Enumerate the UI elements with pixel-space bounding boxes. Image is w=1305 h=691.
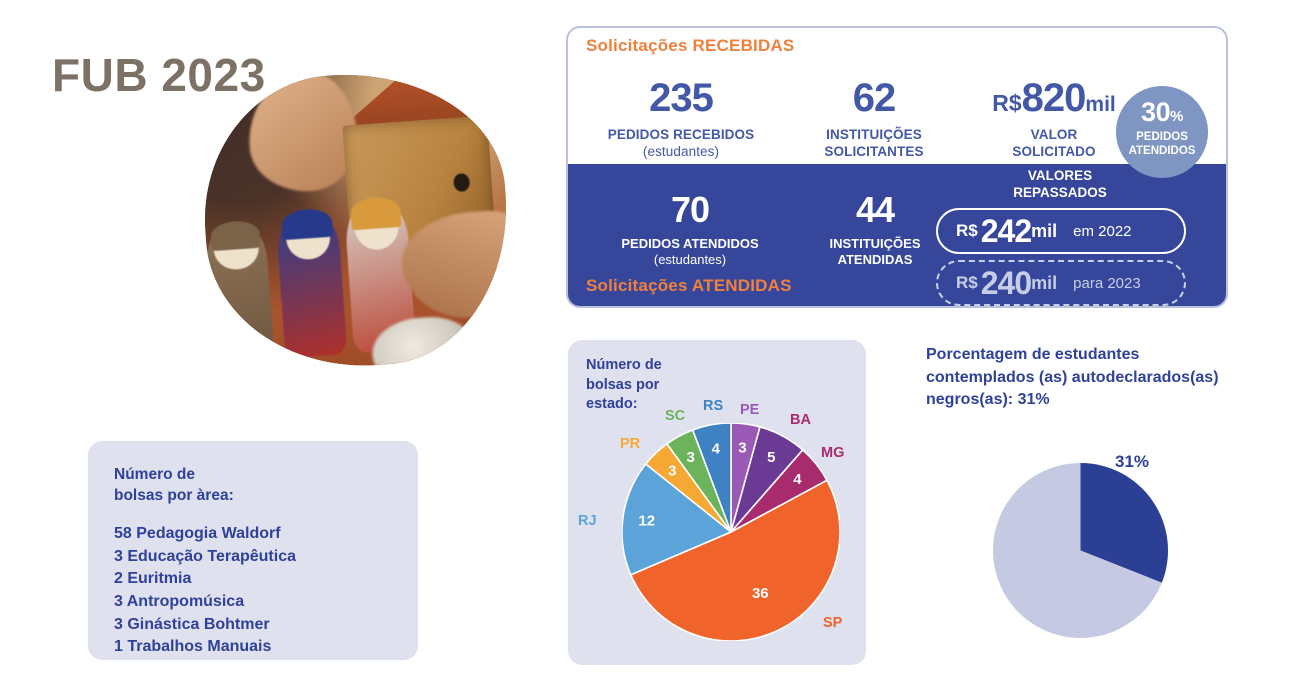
- stat-pedidos-recebidos: 235 PEDIDOS RECEBIDOS (estudantes): [576, 78, 786, 161]
- status-badge-pedidos-atendidos: 30% PEDIDOS ATENDIDOS: [1116, 86, 1208, 178]
- pie-slice-value-mg: 4: [793, 471, 802, 488]
- badge-percent: 30%: [1116, 99, 1208, 126]
- pie-slice-value-ba: 5: [767, 449, 775, 466]
- photo-house-hole: [453, 173, 470, 193]
- percent-heading-line2: contemplados (as) autodeclarados(as): [926, 369, 1219, 386]
- badge-caption-line1: PEDIDOS: [1136, 131, 1188, 143]
- autodeclarados-pie-chart: [993, 463, 1168, 638]
- pie-legend-label-mg: MG: [821, 445, 844, 461]
- percent-heading-line1: Porcentagem de estudantes: [926, 346, 1139, 363]
- stat-instituicoes-solicitantes: 62 INSTITUIÇÕES SOLICITANTES: [794, 78, 954, 161]
- badge-percent-value: 30: [1141, 97, 1170, 127]
- areas-heading-line1: Número de: [114, 466, 195, 483]
- percent-heading-line3: negros(as): 31%: [926, 391, 1050, 408]
- pie-legend-label-pe: PE: [740, 402, 759, 418]
- statistics-card: Solicitações RECEBIDAS 235 PEDIDOS RECEB…: [566, 26, 1228, 308]
- stat-label-line2: (estudantes): [654, 252, 726, 267]
- states-heading-line2: bolsas por: [586, 377, 659, 393]
- percent-pie-annotation: 31%: [1115, 452, 1149, 472]
- amount-unit: mil: [1031, 273, 1057, 294]
- areas-heading-line2: bolsas por àrea:: [114, 487, 234, 504]
- percent-heading: Porcentagem de estudantes contemplados (…: [926, 344, 1276, 412]
- list-item: 3 Antropomúsica: [114, 591, 392, 614]
- amount-unit: mil: [1085, 93, 1115, 116]
- stat-pedidos-atendidos: 70 PEDIDOS ATENDIDOS (estudantes): [590, 192, 790, 269]
- pie-legend-label-pr: PR: [620, 436, 640, 452]
- pie-slice-value-rj: 12: [638, 513, 655, 530]
- amount: 240: [981, 265, 1031, 302]
- waldorf-dolls-photo: [195, 64, 517, 376]
- pie-legend-label-sp: SP: [823, 615, 842, 631]
- served-section-band: 70 PEDIDOS ATENDIDOS (estudantes) 44 INS…: [568, 164, 1226, 308]
- currency-symbol: R$: [992, 90, 1021, 116]
- amount: 242: [981, 213, 1031, 250]
- badge-caption-line2: ATENDIDOS: [1129, 145, 1196, 157]
- pie-slice-value-pe: 3: [738, 440, 746, 457]
- photo-doll-2: [275, 207, 347, 358]
- photo-doll-hair: [282, 208, 333, 241]
- stat-value: 44: [800, 192, 950, 228]
- stat-label-line2: SOLICITANTES: [824, 144, 923, 159]
- amount: 820: [1022, 76, 1086, 120]
- states-heading-line1: Número de: [586, 357, 662, 373]
- transfers-label: VALORES REPASSADOS: [960, 168, 1160, 202]
- list-item: 2 Euritmia: [114, 568, 392, 591]
- autodeclarados-pie-svg: [993, 463, 1168, 638]
- pie-slice-value-sc: 3: [687, 449, 695, 466]
- stat-label-line1: INSTITUIÇÕES: [826, 127, 922, 142]
- section-title-received: Solicitações RECEBIDAS: [586, 36, 794, 56]
- list-item: 3 Educação Terapêutica: [114, 546, 392, 569]
- section-title-served: Solicitações ATENDIDAS: [586, 276, 792, 296]
- transfer-amount-2023: R$ 240 mil para 2023: [936, 260, 1186, 306]
- stat-value: 70: [590, 192, 790, 228]
- states-pie-svg: 3543612334: [622, 423, 840, 641]
- photo-doll-1: [204, 219, 275, 363]
- stat-label: INSTITUIÇÕES ATENDIDAS: [800, 236, 950, 269]
- stat-label-line2: ATENDIDAS: [838, 252, 913, 267]
- list-item: 3 Ginástica Bohtmer: [114, 614, 392, 637]
- stat-label: PEDIDOS RECEBIDOS (estudantes): [576, 127, 786, 161]
- badge-percent-symbol: %: [1170, 108, 1183, 125]
- stat-label-line1: PEDIDOS ATENDIDOS: [621, 236, 758, 251]
- stat-label-line2: SOLICITADO: [1012, 144, 1095, 159]
- states-heading-line3: estado:: [586, 396, 638, 412]
- transfers-label-line2: REPASSADOS: [1013, 185, 1107, 200]
- pie-legend-label-rs: RS: [703, 398, 723, 414]
- photo-background: [195, 64, 517, 376]
- amount-unit: mil: [1031, 221, 1057, 242]
- stat-label-line2: (estudantes): [643, 144, 719, 159]
- badge-caption: PEDIDOS ATENDIDOS: [1116, 131, 1208, 159]
- areas-heading: Número de bolsas por àrea:: [114, 465, 392, 507]
- pie-legend-label-sc: SC: [665, 408, 685, 424]
- bolsas-por-estado-panel: Número de bolsas por estado: 3543612334 …: [568, 340, 866, 665]
- list-item: 58 Pedagogia Waldorf: [114, 523, 392, 546]
- stat-value: 62: [794, 78, 954, 118]
- stat-label: INSTITUIÇÕES SOLICITANTES: [794, 127, 954, 161]
- pie-slice-value-rs: 4: [712, 440, 721, 457]
- states-heading: Número de bolsas por estado:: [586, 356, 662, 415]
- currency-symbol: R$: [956, 273, 978, 293]
- states-pie-chart: 3543612334: [622, 423, 840, 641]
- stat-label-line1: INSTITUIÇÕES: [829, 236, 920, 251]
- pie-legend-label-ba: BA: [790, 412, 811, 428]
- photo-doll-hair: [210, 220, 261, 251]
- stat-label: PEDIDOS ATENDIDOS (estudantes): [590, 236, 790, 269]
- bolsas-por-area-panel: Número de bolsas por àrea: 58 Pedagogia …: [88, 441, 418, 660]
- pie-slice-value-sp: 36: [752, 585, 769, 602]
- amount-year: para 2023: [1073, 275, 1141, 292]
- stat-instituicoes-atendidas: 44 INSTITUIÇÕES ATENDIDAS: [800, 192, 950, 269]
- pie-slice-value-pr: 3: [668, 463, 676, 480]
- stat-label-line1: PEDIDOS RECEBIDOS: [608, 127, 754, 142]
- list-item: 1 Trabalhos Manuais: [114, 636, 392, 659]
- pie-legend-label-rj: RJ: [578, 513, 597, 529]
- transfer-amount-2022: R$ 242 mil em 2022: [936, 208, 1186, 254]
- stat-value: 235: [576, 78, 786, 118]
- stat-label-line1: VALOR: [1031, 127, 1078, 142]
- transfers-label-line1: VALORES: [1028, 168, 1092, 183]
- currency-symbol: R$: [956, 221, 978, 241]
- amount-year: em 2022: [1073, 223, 1131, 240]
